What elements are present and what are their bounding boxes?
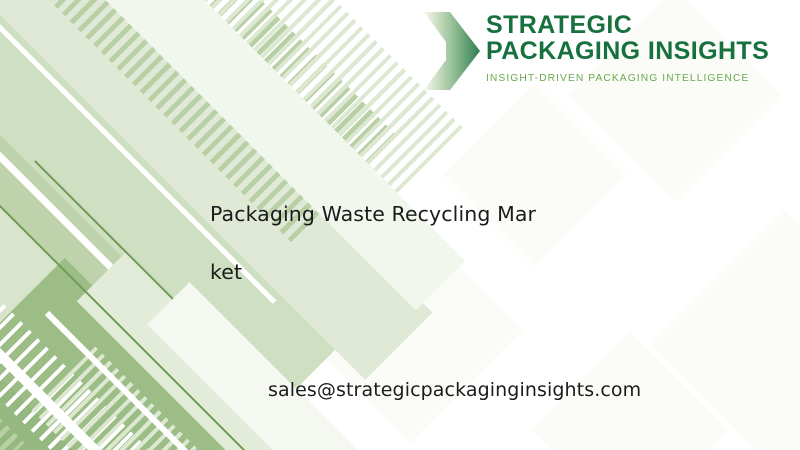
logo-tagline: INSIGHT-DRIVEN PACKAGING INTELLIGENCE (486, 73, 754, 84)
company-logo: STRATEGIC PACKAGING INSIGHTS INSIGHT-DRI… (424, 6, 754, 92)
logo-wordmark-line-2: PACKAGING INSIGHTS (486, 38, 754, 64)
diagonal-sliver (0, 0, 144, 300)
ghost-diagonal-shape (651, 211, 800, 450)
diagonal-band-faint (147, 282, 423, 450)
logo-wordmark-line-1: STRATEGIC (486, 12, 754, 38)
diagonal-band-mid (0, 0, 208, 450)
logo-wordmark: STRATEGIC PACKAGING INSIGHTS INSIGHT-DRI… (486, 6, 754, 84)
report-title: Packaging Waste Recycling Market (210, 185, 540, 302)
diagonal-hatch-band (0, 231, 24, 450)
contact-email[interactable]: sales@strategicpackaginginsights.com (268, 379, 641, 401)
report-cover-slide: STRATEGIC PACKAGING INSIGHTS INSIGHT-DRI… (0, 0, 800, 450)
diagonal-sliver (0, 273, 151, 450)
chevron-arrow-mark-icon (424, 12, 480, 90)
diagonal-band-dark (0, 167, 176, 450)
diagonal-sliver (0, 295, 280, 450)
